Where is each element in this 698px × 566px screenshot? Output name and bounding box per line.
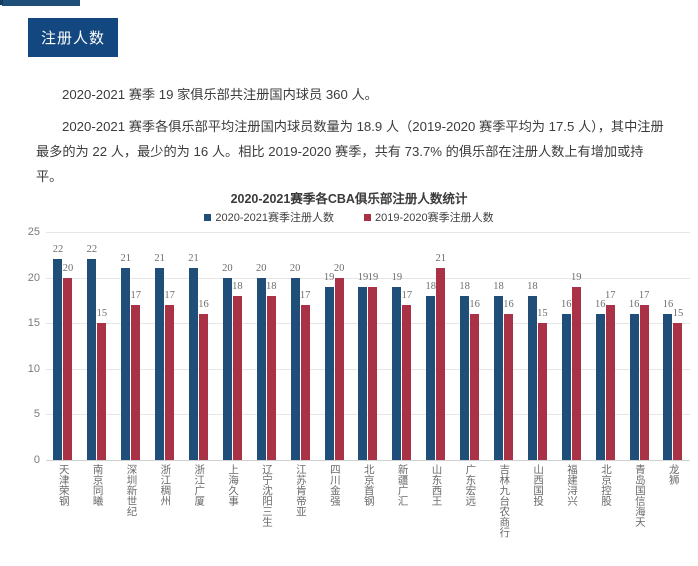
bar-value-label: 20 — [290, 263, 301, 274]
registration-bar-chart: 2020-2021赛季各CBA俱乐部注册人数统计 2020-2021赛季注册人数… — [0, 188, 698, 566]
bar-series-1[interactable]: 20 — [223, 278, 232, 460]
bar-value-label: 17 — [639, 290, 650, 301]
bar-series-2[interactable]: 19 — [572, 287, 581, 460]
bar-series-1[interactable]: 16 — [630, 314, 639, 460]
x-axis-label-text: 吉林九台农商行 — [498, 464, 510, 564]
y-tick-label: 5 — [34, 408, 40, 420]
bar-series-2[interactable]: 18 — [233, 296, 242, 460]
bar-value-label: 15 — [537, 308, 548, 319]
bar-series-1[interactable]: 18 — [494, 296, 503, 460]
bar-group: 2215 — [80, 232, 114, 460]
bar-value-label: 19 — [358, 272, 369, 283]
bar-series-2[interactable]: 16 — [504, 314, 513, 460]
x-axis-label-text: 上海久事 — [227, 464, 239, 564]
x-axis-label-text: 四川金强 — [328, 464, 340, 564]
legend-item-series-1[interactable]: 2020-2021赛季注册人数 — [204, 209, 334, 225]
bar-value-label: 19 — [324, 272, 335, 283]
bar-value-label: 21 — [120, 253, 131, 264]
bar-group: 2117 — [114, 232, 148, 460]
x-axis-label-text: 北京首钢 — [362, 464, 374, 564]
x-axis-label: 新疆广汇 — [385, 464, 419, 564]
top-decorative-strip — [2, 0, 80, 6]
bar-value-label: 18 — [266, 281, 277, 292]
bar-value-label: 17 — [605, 290, 616, 301]
x-axis-label: 山东西王 — [419, 464, 453, 564]
bar-group: 1816 — [453, 232, 487, 460]
bar-group: 2018 — [249, 232, 283, 460]
bar-series-1[interactable]: 20 — [257, 278, 266, 460]
bar-series-2[interactable]: 17 — [131, 305, 140, 460]
x-axis-label-text: 山西国投 — [532, 464, 544, 564]
bar-value-label: 18 — [527, 281, 538, 292]
x-axis-label: 北京首钢 — [351, 464, 385, 564]
y-tick-label: 25 — [28, 226, 40, 238]
bar-value-label: 21 — [188, 253, 199, 264]
bar-value-label: 20 — [63, 263, 74, 274]
x-axis-label-text: 天津荣钢 — [57, 464, 69, 564]
bar-series-1[interactable]: 16 — [663, 314, 672, 460]
bar-value-label: 16 — [198, 299, 209, 310]
bar-group: 2018 — [215, 232, 249, 460]
bar-series-1[interactable]: 20 — [291, 278, 300, 460]
x-axis-label: 北京控股 — [588, 464, 622, 564]
x-axis-label-text: 浙江广厦 — [193, 464, 205, 564]
bar-group: 1919 — [351, 232, 385, 460]
y-tick-label: 15 — [28, 317, 40, 329]
body-text-block: 2020-2021 赛季 19 家俱乐部共注册国内球员 360 人。 2020-… — [36, 82, 664, 196]
bar-series-2[interactable]: 15 — [538, 323, 547, 460]
x-axis-label-text: 龙狮 — [667, 464, 679, 564]
bar-series-1[interactable]: 22 — [53, 259, 62, 460]
bar-series-2[interactable]: 17 — [301, 305, 310, 460]
bar-series-2[interactable]: 15 — [673, 323, 682, 460]
bar-group: 1816 — [487, 232, 521, 460]
bar-group: 1821 — [419, 232, 453, 460]
legend-label-series-1: 2020-2021赛季注册人数 — [215, 209, 334, 225]
bar-series-2[interactable]: 21 — [436, 268, 445, 460]
y-axis: 2520151050 — [0, 232, 46, 460]
bar-value-label: 20 — [334, 263, 345, 274]
chart-title: 2020-2021赛季各CBA俱乐部注册人数统计 — [0, 188, 698, 207]
y-tick-label: 0 — [34, 454, 40, 466]
bar-series-1[interactable]: 21 — [189, 268, 198, 460]
bar-value-label: 18 — [425, 281, 436, 292]
top-strip-marker — [0, 0, 3, 5]
bar-series-2[interactable]: 17 — [640, 305, 649, 460]
x-axis-baseline — [46, 460, 690, 461]
bar-series-1[interactable]: 19 — [358, 287, 367, 460]
bar-series-1[interactable]: 19 — [392, 287, 401, 460]
bar-group: 1615 — [656, 232, 690, 460]
x-axis-label: 上海久事 — [215, 464, 249, 564]
x-axis-label-text: 北京控股 — [599, 464, 611, 564]
bar-series-1[interactable]: 22 — [87, 259, 96, 460]
x-axis-label-text: 山东西王 — [430, 464, 442, 564]
x-axis-label: 四川金强 — [317, 464, 351, 564]
chart-legend: 2020-2021赛季注册人数 2019-2020赛季注册人数 — [0, 209, 698, 225]
bar-group: 2017 — [283, 232, 317, 460]
x-axis-label-text: 青岛国信海天 — [633, 464, 645, 564]
bar-value-label: 19 — [392, 272, 403, 283]
bar-value-label: 20 — [222, 263, 233, 274]
y-tick-label: 10 — [28, 363, 40, 375]
bar-value-label: 19 — [571, 272, 582, 283]
bar-value-label: 15 — [673, 308, 684, 319]
bar-value-label: 17 — [130, 290, 141, 301]
bar-value-label: 16 — [663, 299, 674, 310]
bar-series-1[interactable]: 21 — [155, 268, 164, 460]
x-axis-label: 辽宁沈阳三生 — [249, 464, 283, 564]
x-axis-label: 青岛国信海天 — [622, 464, 656, 564]
paragraph-2: 2020-2021 赛季各俱乐部平均注册国内球员数量为 18.9 人（2019-… — [36, 114, 664, 189]
bar-group: 2116 — [182, 232, 216, 460]
bar-value-label: 16 — [595, 299, 606, 310]
bar-group: 1617 — [622, 232, 656, 460]
x-axis-label: 广东宏远 — [453, 464, 487, 564]
x-axis-label-text: 广东宏远 — [464, 464, 476, 564]
bar-series-2[interactable]: 17 — [165, 305, 174, 460]
bar-value-label: 21 — [435, 253, 446, 264]
bar-series-2[interactable]: 17 — [606, 305, 615, 460]
bar-series-1[interactable]: 18 — [460, 296, 469, 460]
bar-groups: 2220221521172117211620182018201719201919… — [46, 232, 690, 460]
legend-label-series-2: 2019-2020赛季注册人数 — [375, 209, 494, 225]
bar-value-label: 22 — [53, 244, 64, 255]
y-tick-label: 20 — [28, 272, 40, 284]
bar-value-label: 15 — [97, 308, 108, 319]
x-axis-label: 吉林九台农商行 — [487, 464, 521, 564]
x-axis-label-text: 辽宁沈阳三生 — [261, 464, 273, 564]
x-axis-label: 浙江稠州 — [148, 464, 182, 564]
x-axis-label-text: 新疆广汇 — [396, 464, 408, 564]
bar-value-label: 16 — [561, 299, 572, 310]
bar-series-1[interactable]: 16 — [596, 314, 605, 460]
bar-value-label: 20 — [256, 263, 267, 274]
bar-value-label: 16 — [629, 299, 640, 310]
bar-series-1[interactable]: 21 — [121, 268, 130, 460]
chart-plot-area: 2520151050 22202215211721172116201820182… — [0, 232, 698, 566]
bar-series-2[interactable]: 16 — [199, 314, 208, 460]
bar-value-label: 17 — [300, 290, 311, 301]
bar-group: 1617 — [588, 232, 622, 460]
x-axis-label-text: 南京同曦 — [91, 464, 103, 564]
legend-item-series-2[interactable]: 2019-2020赛季注册人数 — [364, 209, 494, 225]
bar-value-label: 22 — [87, 244, 98, 255]
bar-series-2[interactable]: 15 — [97, 323, 106, 460]
bar-series-1[interactable]: 19 — [325, 287, 334, 460]
bar-series-1[interactable]: 18 — [426, 296, 435, 460]
bar-group: 1920 — [317, 232, 351, 460]
x-axis-label: 南京同曦 — [80, 464, 114, 564]
bar-series-2[interactable]: 20 — [335, 278, 344, 460]
bar-series-2[interactable]: 18 — [267, 296, 276, 460]
bar-value-label: 18 — [459, 281, 470, 292]
bar-value-label: 16 — [503, 299, 514, 310]
x-axis-labels: 天津荣钢南京同曦深圳新世纪浙江稠州浙江广厦上海久事辽宁沈阳三生江苏肯帝亚四川金强… — [46, 464, 690, 564]
x-axis-label-text: 浙江稠州 — [159, 464, 171, 564]
section-badge: 注册人数 — [28, 18, 118, 57]
bar-series-1[interactable]: 18 — [528, 296, 537, 460]
paragraph-1: 2020-2021 赛季 19 家俱乐部共注册国内球员 360 人。 — [36, 82, 664, 107]
bar-group: 1917 — [385, 232, 419, 460]
x-axis-label: 浙江广厦 — [182, 464, 216, 564]
bar-group: 2220 — [46, 232, 80, 460]
bar-series-1[interactable]: 16 — [562, 314, 571, 460]
x-axis-label: 龙狮 — [656, 464, 690, 564]
section-badge-label: 注册人数 — [41, 27, 105, 48]
bar-value-label: 18 — [493, 281, 504, 292]
bar-series-2[interactable]: 17 — [402, 305, 411, 460]
bar-value-label: 18 — [232, 281, 243, 292]
legend-swatch-series-1 — [204, 214, 211, 221]
x-axis-label: 福建浔兴 — [554, 464, 588, 564]
legend-swatch-series-2 — [364, 214, 371, 221]
bar-group: 1619 — [554, 232, 588, 460]
bar-value-label: 16 — [469, 299, 480, 310]
bar-group: 2117 — [148, 232, 182, 460]
x-axis-label-text: 福建浔兴 — [566, 464, 578, 564]
x-axis-label: 深圳新世纪 — [114, 464, 148, 564]
bar-series-2[interactable]: 20 — [63, 278, 72, 460]
x-axis-label: 山西国投 — [520, 464, 554, 564]
x-axis-label-text: 深圳新世纪 — [125, 464, 137, 564]
bar-group: 1815 — [520, 232, 554, 460]
bar-value-label: 17 — [402, 290, 413, 301]
x-axis-label: 江苏肯帝亚 — [283, 464, 317, 564]
x-axis-label: 天津荣钢 — [46, 464, 80, 564]
bar-value-label: 17 — [164, 290, 175, 301]
bar-series-2[interactable]: 16 — [470, 314, 479, 460]
bar-value-label: 21 — [154, 253, 165, 264]
bar-series-2[interactable]: 19 — [368, 287, 377, 460]
bar-value-label: 19 — [368, 272, 379, 283]
x-axis-label-text: 江苏肯帝亚 — [294, 464, 306, 564]
